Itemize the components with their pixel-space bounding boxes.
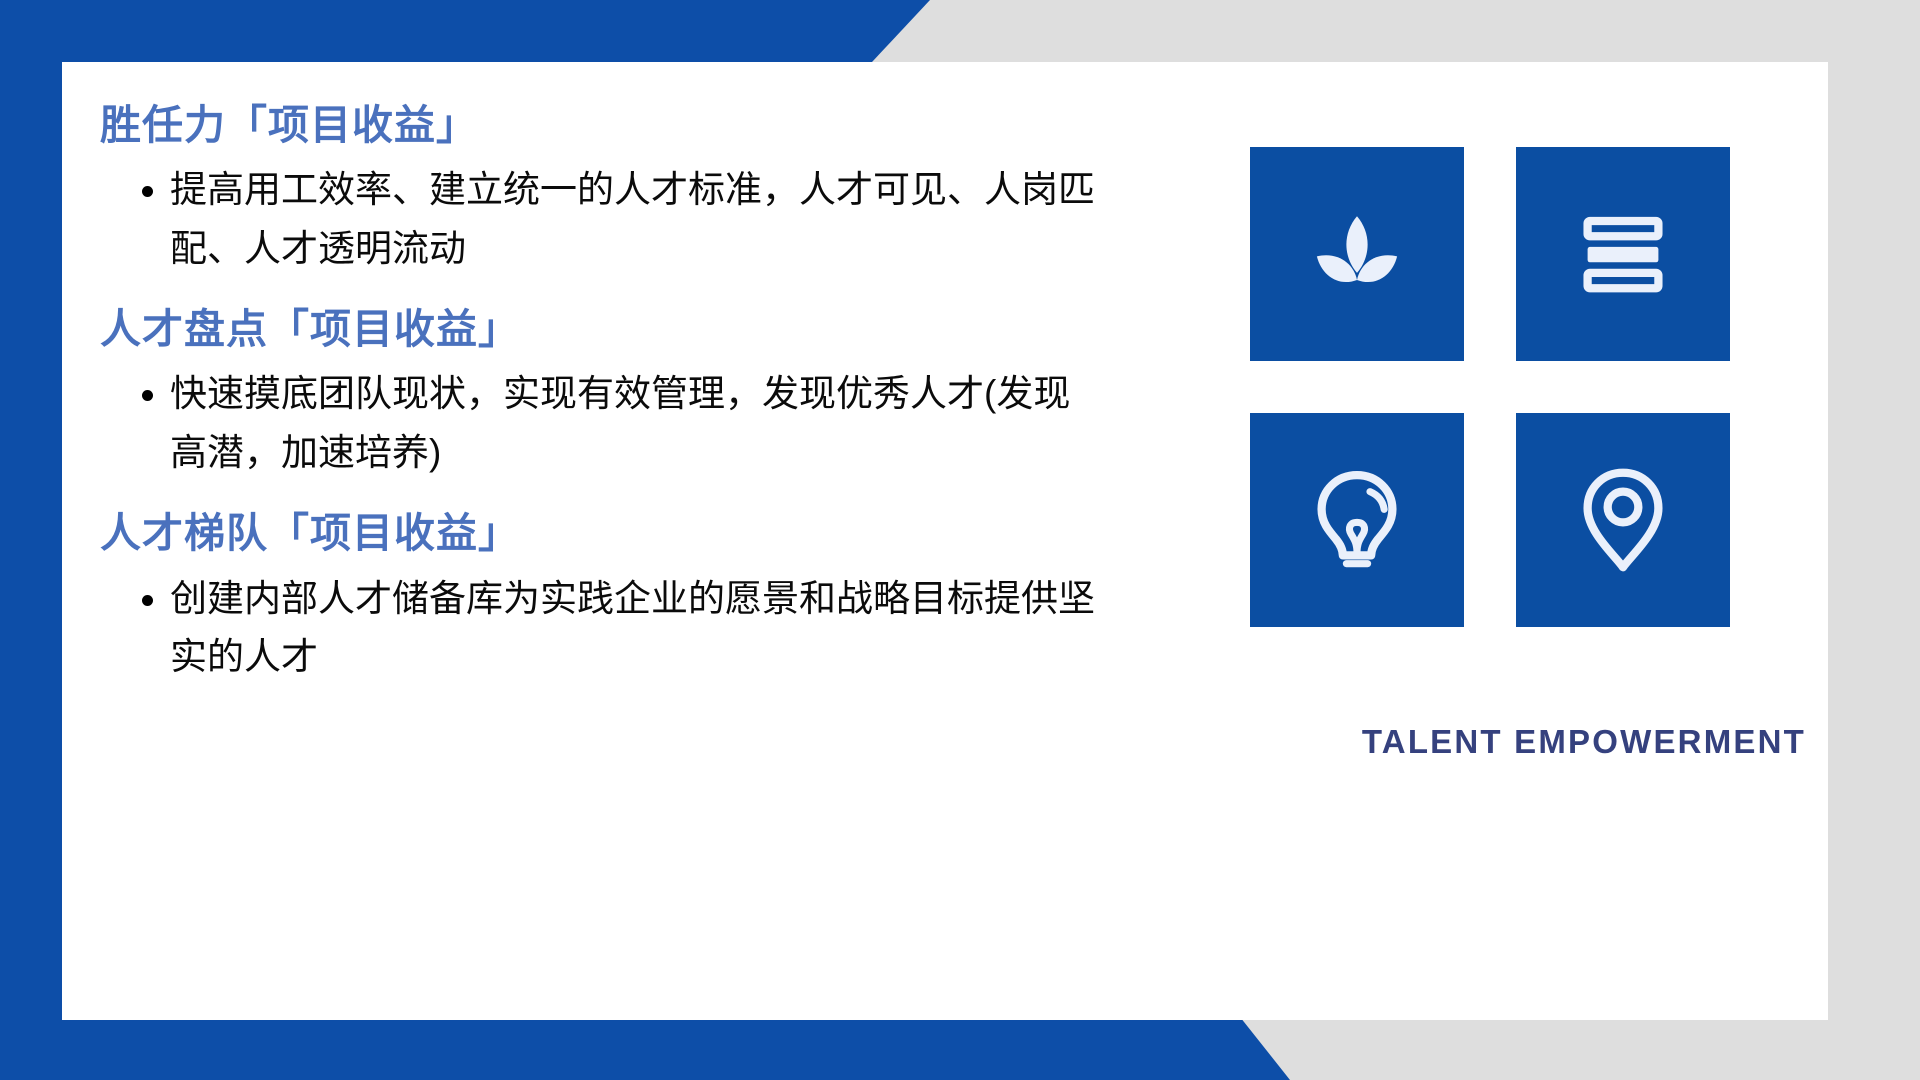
- list-lines-icon: [1564, 195, 1682, 313]
- location-pin-icon: [1564, 461, 1682, 579]
- leaf-plant-icon: [1298, 195, 1416, 313]
- decorative-blue-top-shape: [0, 0, 930, 62]
- section-talent-pipeline: 人才梯队「项目收益」 创建内部人才储备库为实践企业的愿景和战略目标提供坚实的人才: [100, 508, 1152, 686]
- icon-tile-leaf-plant: [1250, 147, 1464, 361]
- section-talent-review: 人才盘点「项目收益」 快速摸底团队现状，实现有效管理，发现优秀人才(发现高潜，加…: [100, 304, 1152, 482]
- bullet-item: 创建内部人才储备库为实践企业的愿景和战略目标提供坚实的人才: [100, 570, 1100, 687]
- bullet-item: 提高用工效率、建立统一的人才标准，人才可见、人岗匹配、人才透明流动: [100, 161, 1100, 278]
- icon-tile-location-pin: [1516, 413, 1730, 627]
- icon-grid: [1250, 147, 1730, 627]
- decorative-grey-right-bar: [1828, 0, 1920, 1080]
- slide-canvas: 胜任力「项目收益」 提高用工效率、建立统一的人才标准，人才可见、人岗匹配、人才透…: [0, 0, 1920, 1080]
- icon-tile-list-lines: [1516, 147, 1730, 361]
- lightbulb-icon: [1298, 461, 1416, 579]
- bullet-item: 快速摸底团队现状，实现有效管理，发现优秀人才(发现高潜，加速培养): [100, 365, 1100, 482]
- content-card: 胜任力「项目收益」 提高用工效率、建立统一的人才标准，人才可见、人岗匹配、人才透…: [62, 62, 1828, 1020]
- bullet-list-talent-pipeline: 创建内部人才储备库为实践企业的愿景和战略目标提供坚实的人才: [100, 570, 1152, 687]
- tagline-text: TALENT EMPOWERMENT: [1362, 723, 1806, 761]
- section-title-talent-review: 人才盘点「项目收益」: [100, 304, 1152, 355]
- section-title-competency: 胜任力「项目收益」: [100, 100, 1152, 151]
- section-title-talent-pipeline: 人才梯队「项目收益」: [100, 508, 1152, 559]
- icon-tile-lightbulb: [1250, 413, 1464, 627]
- bullet-list-competency: 提高用工效率、建立统一的人才标准，人才可见、人岗匹配、人才透明流动: [100, 161, 1152, 278]
- section-competency: 胜任力「项目收益」 提高用工效率、建立统一的人才标准，人才可见、人岗匹配、人才透…: [100, 100, 1152, 278]
- bullet-list-talent-review: 快速摸底团队现状，实现有效管理，发现优秀人才(发现高潜，加速培养): [100, 365, 1152, 482]
- icon-column: TALENT EMPOWERMENT: [1152, 62, 1828, 1020]
- text-column: 胜任力「项目收益」 提高用工效率、建立统一的人才标准，人才可见、人岗匹配、人才透…: [62, 62, 1152, 1020]
- decorative-blue-left-bar: [0, 0, 62, 1080]
